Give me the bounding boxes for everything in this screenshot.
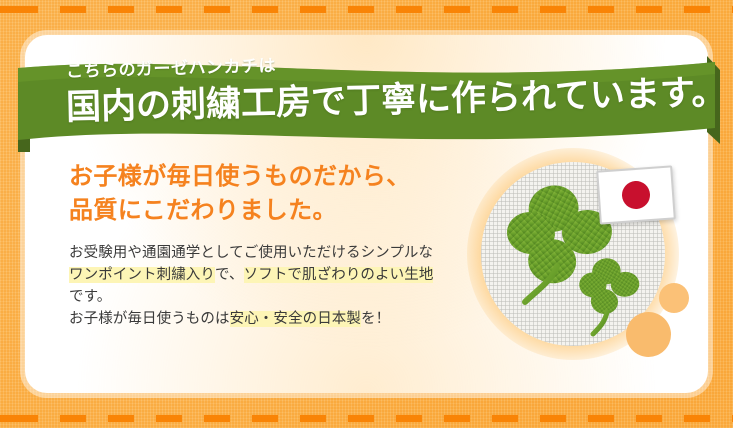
japan-flag-disc xyxy=(621,180,651,210)
body-line-3: です。 xyxy=(69,286,469,308)
body-line-2-highlight-1: ワンポイント刺繍入り xyxy=(69,267,215,283)
headline-line-1: お子様が毎日使うものだから、 xyxy=(69,160,469,194)
copy-block: お子様が毎日使うものだから、 品質にこだわりました。 お受験用や通園通学としてご… xyxy=(69,160,469,330)
body-line-1: お受験用や通園通学としてご使用いただけるシンプルな xyxy=(69,242,469,264)
ribbon-banner: こちらのガーゼハンカチは 国内の刺繍工房で丁寧に作られています。 xyxy=(0,56,733,152)
body-copy: お受験用や通園通学としてご使用いただけるシンプルな ワンポイント刺繍入りで、ソフ… xyxy=(69,242,469,330)
stitch-line-bottom xyxy=(0,415,733,422)
body-line-4-plain-before: お子様が毎日使うものは xyxy=(69,311,230,327)
body-line-4-plain-after: を！ xyxy=(361,311,390,327)
headline-line-2: 品質にこだわりました。 xyxy=(69,194,469,228)
product-banner: こちらのガーゼハンカチは 国内の刺繍工房で丁寧に作られています。 お子様が毎日使… xyxy=(0,0,733,428)
japan-flag-badge xyxy=(596,165,676,224)
body-line-2: ワンポイント刺繍入りで、ソフトで肌ざわりのよい生地 xyxy=(69,264,469,286)
body-line-2-plain: で、 xyxy=(215,267,244,283)
stitch-line-top xyxy=(0,6,733,13)
body-line-4: お子様が毎日使うものは安心・安全の日本製を！ xyxy=(69,308,469,330)
body-line-2-highlight-2: ソフトで肌ざわりのよい生地 xyxy=(244,267,434,283)
body-line-4-highlight: 安心・安全の日本製 xyxy=(230,311,361,327)
decorative-dot-large xyxy=(626,312,671,357)
headline: お子様が毎日使うものだから、 品質にこだわりました。 xyxy=(69,160,469,228)
decorative-dot-small xyxy=(659,283,689,313)
